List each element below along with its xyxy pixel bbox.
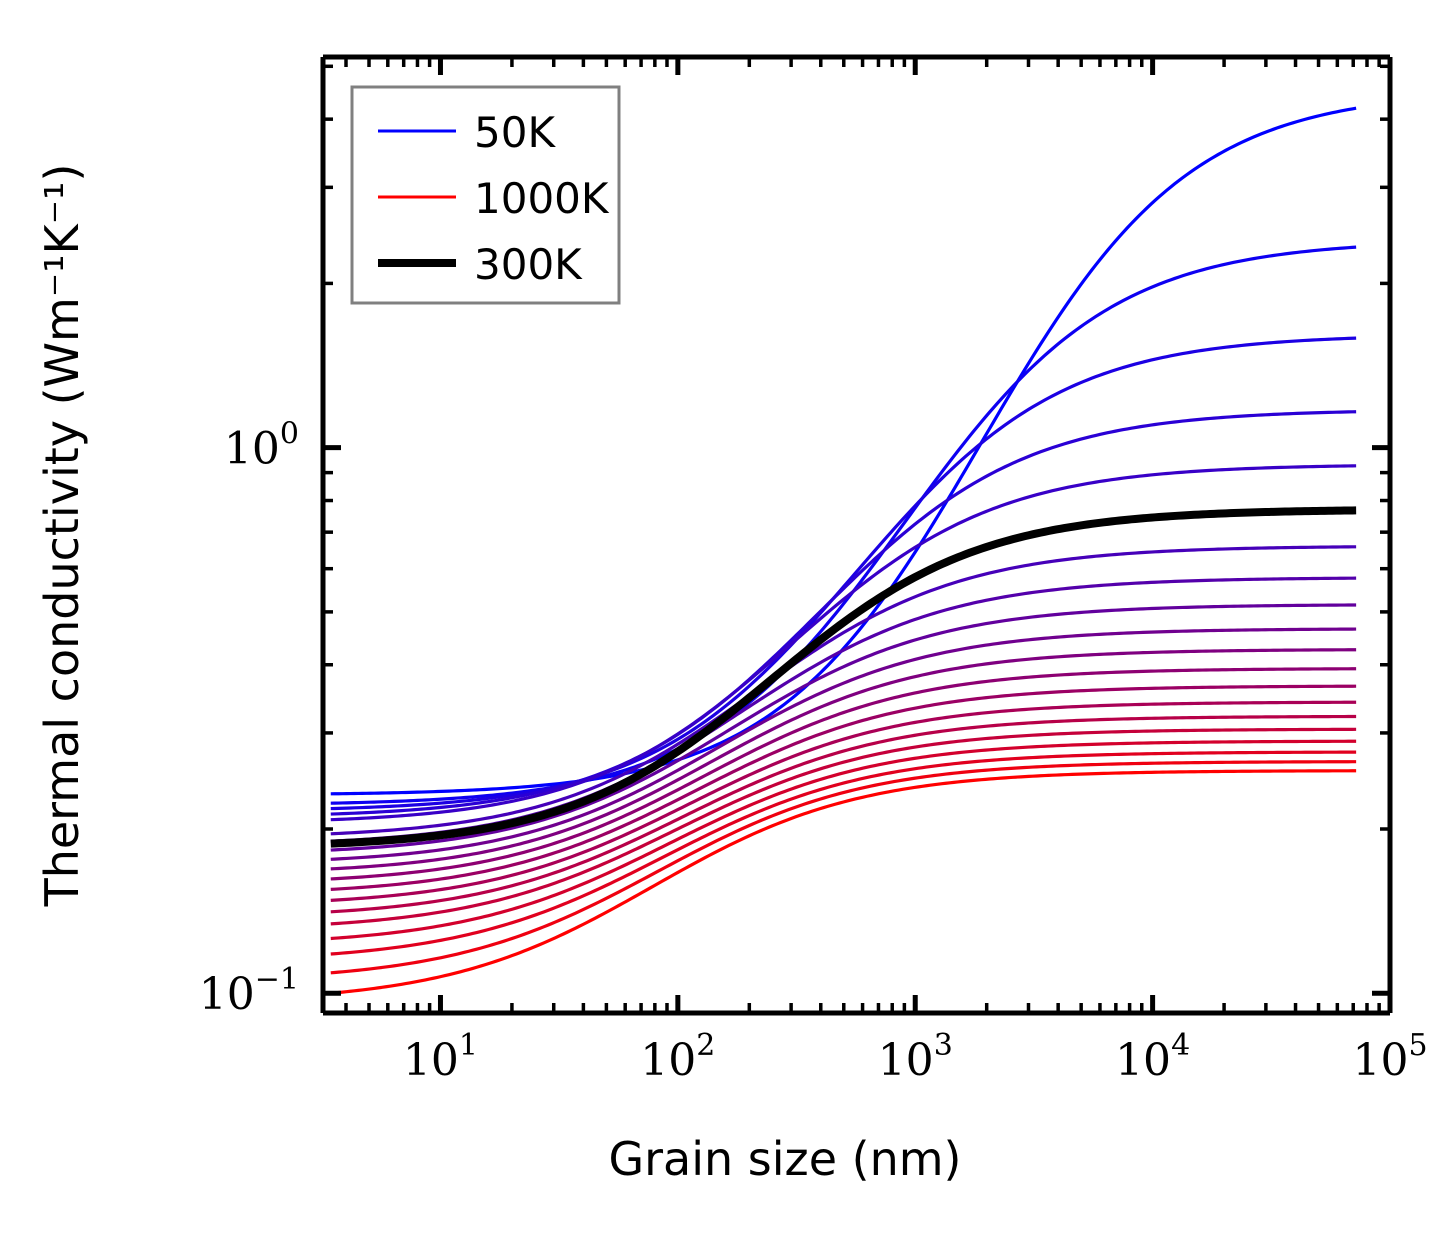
x-tick-label: 105 <box>1352 1028 1427 1086</box>
y-tick-label: 100 <box>224 417 299 475</box>
legend-label-1000K: 1000K <box>474 174 610 223</box>
legend-label-50K: 50K <box>474 108 556 157</box>
curve-100K <box>331 247 1356 803</box>
x-tick-label: 101 <box>403 1028 478 1086</box>
y-axis-title: Thermal conductivity (Wm⁻¹K⁻¹) <box>35 164 89 908</box>
curve-250K <box>331 466 1356 820</box>
figure-canvas: 10110210310410510010−1 50K1000K300K Grai… <box>0 0 1454 1254</box>
x-tick-label: 102 <box>640 1028 715 1086</box>
chart-legend[interactable]: 50K1000K300K <box>352 87 619 303</box>
curve-950K <box>331 762 1356 973</box>
chart-svg: 10110210310410510010−1 50K1000K300K Grai… <box>0 0 1454 1254</box>
x-tick-label: 104 <box>1115 1028 1190 1086</box>
x-tick-label: 103 <box>878 1028 953 1086</box>
legend-label-300K: 300K <box>474 240 583 289</box>
x-axis-title: Grain size (nm) <box>609 1132 962 1186</box>
y-tick-label: 10−1 <box>199 962 299 1020</box>
